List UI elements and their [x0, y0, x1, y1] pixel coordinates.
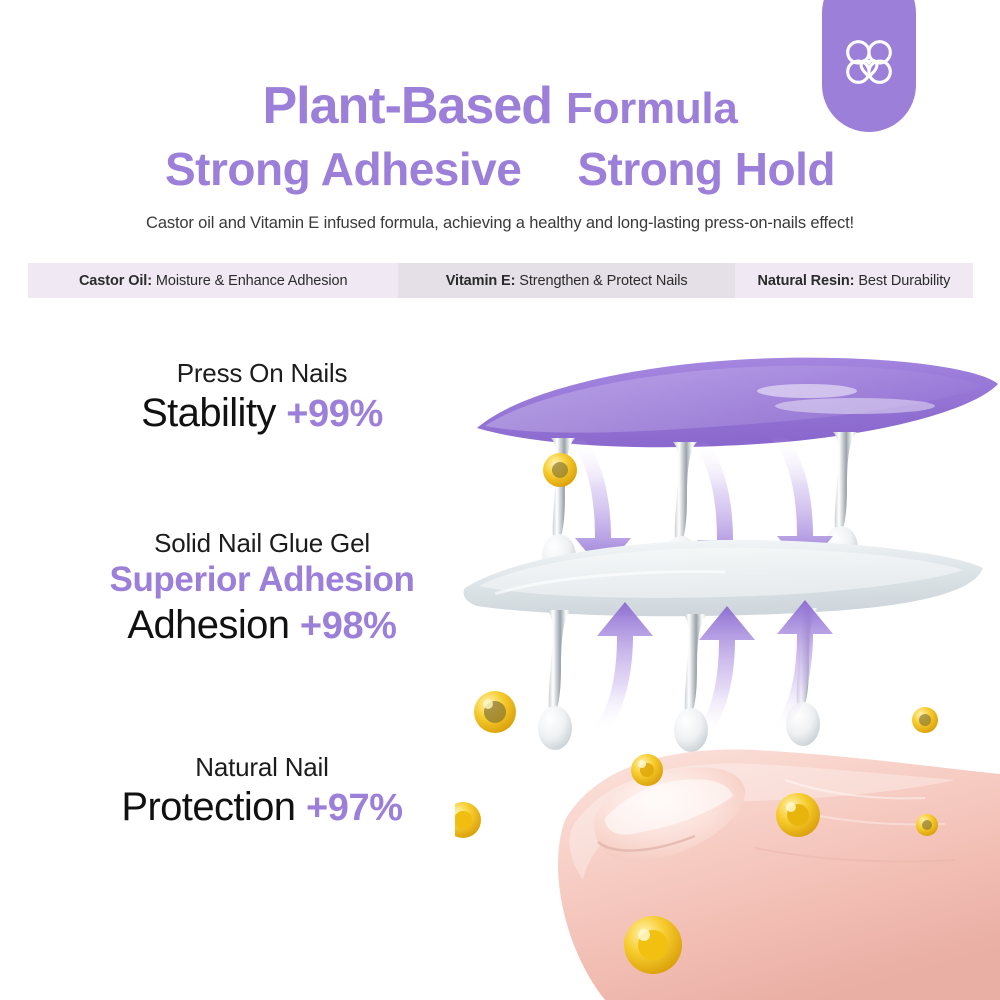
- stat-accent-line: Superior Adhesion: [32, 559, 492, 601]
- gold-bead: [455, 802, 481, 838]
- headline-strong-hold: Strong Hold: [577, 143, 835, 195]
- press-on-nail-tip: [477, 358, 998, 448]
- ingredient-badge-natural-resin: Natural Resin: Best Durability: [735, 263, 973, 298]
- ingredient-name: Natural Resin:: [758, 273, 855, 289]
- product-description: Castor oil and Vitamin E infused formula…: [0, 214, 1000, 233]
- stat-block-protection: Natural Nail Protection +97%: [52, 752, 472, 831]
- stat-metric: Protection: [121, 785, 295, 829]
- gold-bead: [631, 754, 663, 786]
- glue-gel-layer: [464, 540, 984, 616]
- gold-bead: [776, 793, 820, 837]
- headline-block: Plant-BasedFormula Strong AdhesiveStrong…: [0, 80, 1000, 192]
- headline-strong-adhesive: Strong Adhesive: [165, 143, 521, 195]
- stat-percent: +98%: [300, 605, 397, 647]
- stat-label: Natural Nail: [52, 752, 472, 783]
- headline-formula: Formula: [566, 84, 737, 133]
- stat-percent: +99%: [286, 393, 383, 435]
- fingertip: [558, 750, 1000, 1000]
- ingredient-benefit: Strengthen & Protect Nails: [519, 273, 687, 289]
- stat-label: Solid Nail Glue Gel: [32, 528, 492, 559]
- ingredient-badge-vitamin-e: Vitamin E: Strengthen & Protect Nails: [398, 263, 734, 298]
- infographic-page: Plant-BasedFormula Strong AdhesiveStrong…: [0, 0, 1000, 1000]
- stat-metric: Adhesion: [127, 603, 289, 647]
- ingredient-badge-castor-oil: Castor Oil: Moisture & Enhance Adhesion: [28, 263, 398, 298]
- headline-line-1: Plant-BasedFormula: [0, 80, 1000, 132]
- ingredient-name: Castor Oil:: [79, 273, 152, 289]
- gold-bead: [543, 453, 577, 487]
- ingredient-benefit: Best Durability: [858, 273, 950, 289]
- gold-bead: [624, 916, 682, 974]
- gold-bead: [474, 691, 516, 733]
- adhesion-layer-illustration: [455, 350, 1000, 1000]
- ingredient-benefit: Moisture & Enhance Adhesion: [156, 273, 348, 289]
- stat-label: Press On Nails: [52, 358, 472, 389]
- gold-bead: [912, 707, 938, 733]
- headline-line-2: Strong AdhesiveStrong Hold: [0, 146, 1000, 192]
- headline-plant-based: Plant-Based: [262, 77, 552, 135]
- gold-bead: [916, 814, 938, 836]
- stat-block-stability: Press On Nails Stability +99%: [52, 358, 472, 437]
- stat-metric-row: Stability +99%: [52, 389, 472, 438]
- ingredient-name: Vitamin E:: [446, 273, 516, 289]
- stat-block-adhesion: Solid Nail Glue Gel Superior Adhesion Ad…: [32, 528, 492, 649]
- stat-metric-row: Adhesion +98%: [32, 601, 492, 650]
- ingredient-badge-bar: Castor Oil: Moisture & Enhance Adhesion …: [28, 263, 973, 298]
- stat-metric-row: Protection +97%: [52, 783, 472, 832]
- stat-metric: Stability: [141, 391, 276, 435]
- stat-percent: +97%: [306, 787, 403, 829]
